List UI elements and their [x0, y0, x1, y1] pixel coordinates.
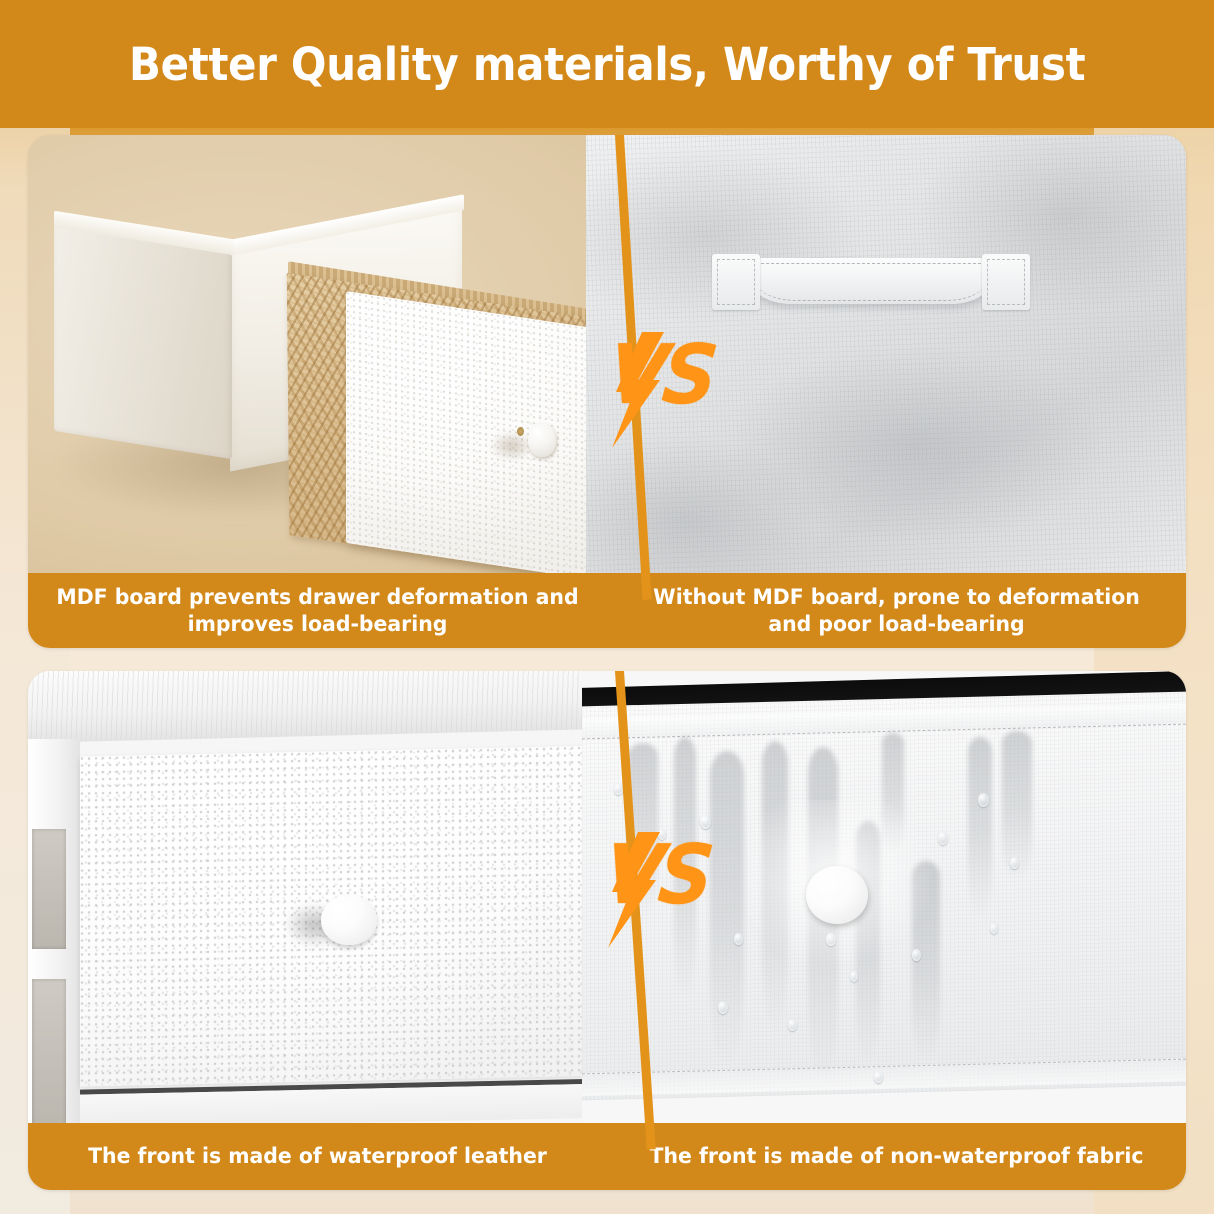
caption-waterproof-leather: The front is made of waterproof leather: [42, 1123, 592, 1190]
water-droplet: [874, 1071, 883, 1083]
photo-row-top: [28, 135, 1186, 573]
water-droplet: [700, 815, 711, 829]
comparison-card-waterproof: The front is made of waterproof leather …: [28, 671, 1186, 1190]
water-streak: [968, 737, 992, 917]
page-title: Better Quality materials, Worthy of Trus…: [129, 38, 1085, 91]
water-droplet: [850, 971, 858, 982]
photo-row-bottom: [28, 671, 1186, 1123]
dresser-top-surface: [28, 671, 628, 743]
caption-mdf-board: MDF board prevents drawer deformation an…: [42, 573, 592, 648]
bin-front-panel: [54, 219, 232, 459]
knob-screw-icon: [517, 427, 524, 436]
water-droplet: [734, 933, 743, 945]
water-streak: [674, 737, 696, 997]
leather-drawer-knob: [321, 895, 377, 945]
photo-fabric-bin: [586, 135, 1186, 573]
water-droplet: [978, 793, 989, 807]
side-slot: [32, 979, 66, 1123]
caption-without-mdf-board: Without MDF board, prone to deformation …: [621, 573, 1171, 648]
water-droplet: [1010, 857, 1019, 869]
fabric-drawer-knob: [806, 866, 868, 924]
handle-anchor-left: [712, 254, 760, 310]
infographic-stage: Better Quality materials, Worthy of Trus…: [0, 0, 1214, 1214]
water-streak: [710, 751, 744, 1061]
dresser-side-frame: [28, 739, 80, 1123]
caption-bar-bottom: The front is made of waterproof leather …: [28, 1123, 1186, 1190]
photo-waterproof-leather: [28, 671, 628, 1123]
fabric-pull-handle: [712, 254, 1030, 312]
drawer-knob: [528, 423, 556, 457]
comparison-card-mdf-board: MDF board prevents drawer deformation an…: [28, 135, 1186, 648]
handle-stitching: [756, 263, 986, 301]
water-droplet: [938, 831, 948, 845]
handle-anchor-right: [982, 254, 1030, 310]
photo-mdf-drawer: [28, 135, 628, 573]
header-banner: Better Quality materials, Worthy of Trus…: [0, 0, 1214, 128]
caption-non-waterproof-fabric: The front is made of non-waterproof fabr…: [621, 1123, 1171, 1190]
water-droplet: [990, 923, 998, 934]
water-droplet: [718, 1001, 728, 1014]
water-droplet: [658, 829, 666, 840]
side-slot: [32, 829, 66, 949]
water-droplet: [788, 1019, 797, 1031]
caption-bar-top: MDF board prevents drawer deformation an…: [28, 573, 1186, 648]
